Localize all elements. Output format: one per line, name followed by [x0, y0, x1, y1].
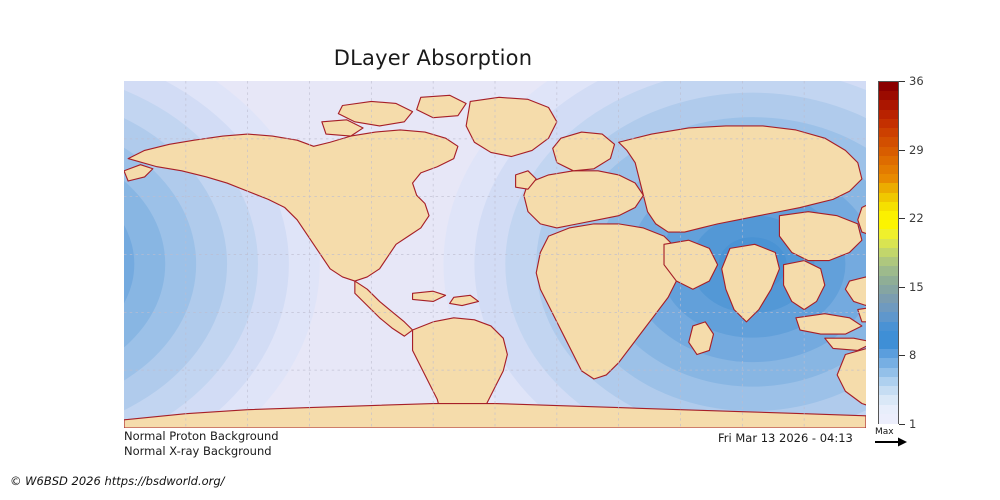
- colorbar-tick-label: 8: [909, 348, 916, 362]
- colorbar-tick: [899, 355, 905, 356]
- max-marker-label: Max: [875, 428, 894, 437]
- timestamp: Fri Mar 13 2026 - 04:13: [718, 431, 853, 445]
- colorbar-tick: [899, 424, 905, 425]
- xray-status-text: Normal X-ray Background: [124, 444, 272, 458]
- colorbar-tick: [899, 218, 905, 219]
- proton-status-text: Normal Proton Background: [124, 429, 279, 443]
- colorbar-tick: [899, 150, 905, 151]
- colorbar-tick-label: 22: [909, 211, 924, 225]
- colorbar[interactable]: 3629221581 Max: [878, 81, 899, 424]
- colorbar-tick-label: 36: [909, 74, 924, 88]
- colorbar-gradient: [878, 81, 899, 424]
- colorbar-tick-label: 15: [909, 280, 924, 294]
- max-marker: Max: [874, 429, 908, 449]
- colorbar-band: [879, 414, 898, 424]
- world-map[interactable]: [124, 81, 866, 428]
- colorbar-tick-label: 29: [909, 143, 924, 157]
- page-title: DLayer Absorption: [0, 46, 866, 70]
- figure-root: DLayer Absorption: [0, 0, 1000, 500]
- colorbar-axis-label-wrap: Affected Frequency (MHz): [931, 81, 1000, 424]
- copyright-notice: © W6BSD 2026 https://bsdworld.org/: [10, 474, 225, 488]
- colorbar-tick: [899, 81, 905, 82]
- colorbar-tick-label: 1: [909, 417, 916, 431]
- map-canvas: [124, 81, 866, 428]
- colorbar-tick: [899, 287, 905, 288]
